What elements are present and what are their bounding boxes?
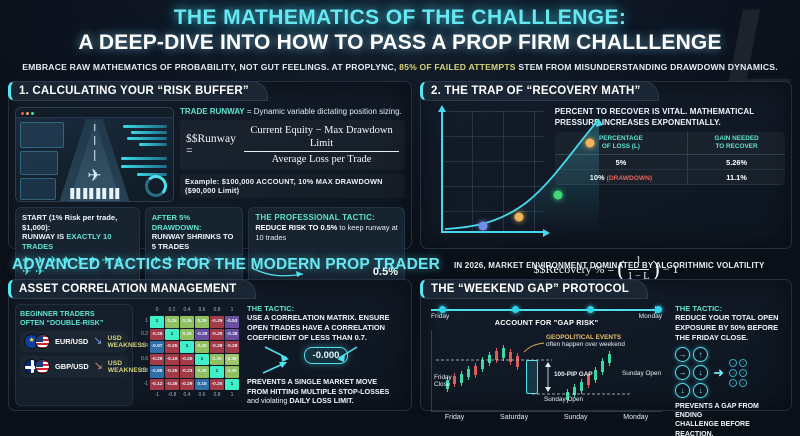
gap-zone-box	[526, 360, 538, 394]
bottom-row: ASSET CORRELATION MANAGEMENT BEGINNER TR…	[0, 277, 800, 411]
pair-name-gbpusd: GBP/USD	[55, 362, 89, 371]
tactic-body-bold: REDUCE RISK TO 0.5%	[255, 223, 337, 232]
matrix-cell[interactable]: -0.28	[210, 341, 224, 353]
panel-4-heading: THE “WEEKEND GAP” PROTOCOL	[420, 279, 648, 299]
timeline-label-right: Monday	[639, 313, 662, 320]
runway-formula-denominator: Average Loss per Trade	[244, 152, 399, 166]
list-item: EUR/USD ↘ USD WEAKNESS	[20, 331, 128, 352]
exposure-arrow-icon-0: →	[675, 347, 690, 362]
exposure-arrow-icon-1: ↑	[693, 347, 708, 362]
sunday-open-bottom-label: Sunday Open	[544, 396, 583, 403]
correlation-footer-l2: FROM HITTING MULTIPLE STOP-LOSSES	[247, 387, 405, 397]
trade-runway-def: = Dynamic variable dictating position si…	[245, 107, 402, 116]
top-row: 1. CALCULATING YOUR “RISK BUFFER” ✈	[0, 72, 800, 249]
trade-runway-label: TRADE RUNWAY	[180, 107, 245, 116]
matrix-cell[interactable]: 0.25	[210, 354, 224, 366]
matrix-cell[interactable]: -0.25	[210, 329, 224, 341]
matrix-cell[interactable]: -0.23	[180, 366, 194, 378]
matrix-cell[interactable]: 0.25	[165, 316, 179, 328]
matrix-cell[interactable]: -0.97	[150, 341, 164, 353]
subtitle-highlight: 85% OF FAILED ATTEMPTS	[399, 62, 516, 72]
correlation-matrix: 00.20.40.60.81110.250.250.29-0.25-0.530.…	[138, 304, 239, 406]
matrix-cell[interactable]: 1	[150, 316, 164, 328]
beginner-caption: BEGINNER TRADERS OFTEN “DOUBLE-RISK”	[20, 309, 128, 327]
chart-node-4	[586, 139, 595, 148]
table-header-gain-l2: TO RECOVER	[690, 143, 783, 151]
sunday-open-right-label: Sunday Open	[622, 370, 661, 377]
exposure-arrow-small-icon-2: →	[729, 369, 737, 377]
matrix-cell[interactable]: -0.39	[195, 329, 209, 341]
correlation-footer-l1: PREVENTS A SINGLE MARKET MOVE	[247, 377, 405, 387]
trade-runway-definition: TRADE RUNWAY = Dynamic variable dictatin…	[180, 107, 405, 116]
right-arrow-icon: ➜	[713, 365, 724, 381]
cell-gain-1: 5.26%	[688, 155, 785, 170]
beginner-pairs-box: BEGINNER TRADERS OFTEN “DOUBLE-RISK” EUR…	[15, 304, 133, 406]
subtitle-post: STEM FROM MISUNDERSTANDING DRAWDOWN DYNA…	[518, 62, 777, 72]
chart-node-1	[479, 222, 488, 231]
weekend-tactic-body: REDUCE YOUR TOTAL OPEN EXPOSURE BY 50% B…	[675, 313, 785, 342]
correlation-footer: PREVENTS A SINGLE MARKET MOVE FROM HITTI…	[247, 377, 405, 406]
beginner-caption-l2: OFTEN “DOUBLE-RISK”	[20, 318, 128, 327]
exposure-arrow-small-icon-0: →	[729, 359, 737, 367]
matrix-col-header-0: 0	[150, 306, 164, 315]
timeline-dot-1	[439, 306, 446, 313]
weekend-gap-chart: Friday Monday ACCOUNT FOR "GAP RISK"	[427, 304, 666, 436]
matrix-cell[interactable]: -0.25	[210, 379, 224, 391]
friday-close-note: Friday Close	[434, 374, 452, 388]
matrix-cell[interactable]: -0.85	[150, 366, 164, 378]
matrix-cell[interactable]: 1	[180, 341, 194, 353]
matrix-cell[interactable]: 1	[165, 329, 179, 341]
risk-formula-column: TRADE RUNWAY = Dynamic variable dictatin…	[180, 107, 405, 202]
weekend-footer-l2: CHALLENGE BEFORE REACTION.	[675, 420, 785, 436]
panel-1-heading: 1. CALCULATING YOUR “RISK BUFFER”	[8, 81, 268, 101]
matrix-cell[interactable]: -0.19	[165, 354, 179, 366]
table-header-gain: GAIN NEEDED TO RECOVER	[688, 132, 785, 155]
exposure-arrow-icon-3: ↓	[693, 365, 708, 380]
page-header: THE MATHEMATICS OF THE CHALLLENGE: A DEE…	[0, 0, 800, 72]
timeline-dot-4	[655, 306, 662, 313]
matrix-cell[interactable]: -0.29	[180, 379, 194, 391]
panel-recovery-math: 2. THE TRAP OF “RECOVERY MATH”	[420, 81, 792, 249]
runway-formula-numerator: Current Equity − Max Drawdown Limit	[244, 124, 399, 152]
mid-banner-subtitle: IN 2026, MARKET ENVIRONMENT DOMINATED BY…	[454, 261, 765, 270]
recovery-curve-chart	[427, 107, 550, 249]
matrix-cell[interactable]: 0.29	[195, 316, 209, 328]
matrix-cell[interactable]: 0.25	[195, 341, 209, 353]
weekend-tactic-title: THE TACTIC:	[675, 304, 785, 313]
friday-close-l2: Close	[434, 381, 452, 388]
matrix-col-header-2: 0.4	[180, 306, 194, 315]
geopolitical-note: GEOPOLITICAL EVENTS often happen over we…	[546, 334, 666, 348]
flag-pair-eurusd-icon	[24, 334, 50, 349]
exposure-arrow-icon-5: ↓	[693, 383, 708, 398]
matrix-row-header-3: 0.6	[138, 354, 149, 366]
card-start-line1: START (1% Risk per trade, $1,000):	[22, 213, 133, 232]
chart-node-2	[515, 213, 524, 222]
chart-node-3	[554, 191, 563, 200]
matrix-cell[interactable]: -0.25	[165, 366, 179, 378]
airplane-icon: ✈	[87, 166, 101, 186]
cell-gain-2: 11.1%	[688, 170, 785, 185]
x-label-friday: Friday	[445, 414, 464, 421]
correlation-tactic-column: THE TACTIC: USE A CORRELATION MATRIX. EN…	[244, 304, 405, 406]
mid-banner: ADVANCED TACTICS FOR THE MODERN PROP TRA…	[0, 249, 800, 277]
exposure-arrow-small-icon-1: ↑	[739, 359, 747, 367]
matrix-cell[interactable]: -0.29	[225, 341, 239, 353]
matrix-cell[interactable]: 0.25	[180, 316, 194, 328]
matrix-row-header-0: 1	[138, 316, 149, 328]
geopolitical-note-sub: often happen over weekend	[546, 341, 666, 348]
correlation-footer-l3-thin: and violating	[247, 396, 289, 405]
exposure-arrow-icon-4: ↓	[675, 383, 690, 398]
infographic-root: L P V THE MATHEMATICS OF THE CHALLLENGE:…	[0, 0, 800, 436]
pair-name-eurusd: EUR/USD	[55, 337, 88, 346]
beginner-caption-l1: BEGINNER TRADERS	[20, 309, 128, 318]
timeline-label-left: Friday	[431, 313, 449, 320]
matrix-bottom-header-4: 0.8	[210, 391, 224, 400]
matrix-cell[interactable]: 0.25	[195, 366, 209, 378]
matrix-row-header-2: 0.4	[138, 341, 149, 353]
page-title-line1: THE MATHEMATICS OF THE CHALLLENGE:	[0, 6, 800, 30]
panel-2-heading: 2. THE TRAP OF “RECOVERY MATH”	[420, 81, 659, 101]
weekend-footer: PREVENTS A GAP FROM ENDING CHALLENGE BEF…	[675, 402, 785, 436]
exposure-arrow-icon-2: →	[675, 365, 690, 380]
matrix-bottom-header-3: 0.6	[195, 391, 209, 400]
card-after-line1: AFTER 5% DRAWDOWN:	[152, 213, 237, 232]
matrix-cell[interactable]: 1	[210, 366, 224, 378]
panel-weekend-gap: THE “WEEKEND GAP” PROTOCOL Friday Monday…	[420, 279, 792, 411]
friday-close-l1: Friday	[434, 374, 452, 381]
matrix-cell[interactable]: -0.25	[165, 341, 179, 353]
matrix-cell[interactable]: -0.53	[225, 316, 239, 328]
matrix-cell[interactable]: -0.25	[150, 329, 164, 341]
page-title-line2: A DEEP-DIVE INTO HOW TO PASS A PROP FIRM…	[0, 31, 800, 55]
geopolitical-note-bold: GEOPOLITICAL EVENTS	[546, 334, 666, 341]
exposure-reduction-diagram: →↑→↓↓↓ ➜ →↑→↓↓↓	[675, 347, 785, 398]
weekend-footer-l1: PREVENTS A GAP FROM ENDING	[675, 402, 785, 420]
weekend-timeline: Friday Monday	[427, 304, 666, 320]
mid-banner-title: ADVANCED TACTICS FOR THE MODERN PROP TRA…	[12, 256, 440, 274]
matrix-col-header-4: 0.8	[210, 306, 224, 315]
runway-formula: $$Runway = Current Equity − Max Drawdown…	[180, 120, 405, 170]
matrix-cell[interactable]: -0.12	[150, 379, 164, 391]
tactic-title: THE PROFESSIONAL TACTIC:	[255, 213, 398, 222]
matrix-col-header-3: 0.6	[195, 306, 209, 315]
matrix-col-header-1: 0.2	[165, 306, 179, 315]
runway-example: Example: $100,000 ACCOUNT, 10% MAX DRAWD…	[180, 174, 405, 198]
timeline-dot-3	[587, 306, 594, 313]
candlestick-chart: Friday Close GEOPOLITICAL EVENTS often h…	[431, 330, 662, 412]
matrix-cell[interactable]: -0.25	[180, 354, 194, 366]
gap-size-label: 100-PIP GAP	[554, 371, 593, 378]
matrix-cell[interactable]: 0.25	[180, 329, 194, 341]
matrix-bottom-header-2: 0.4	[180, 391, 194, 400]
subtitle-pre: EMBRACE RAW MATHEMATICS OF PROBABILITY, …	[22, 62, 396, 72]
table-header-gain-l1: GAIN NEEDED	[690, 135, 783, 143]
matrix-cell[interactable]: 1	[195, 354, 209, 366]
list-item: GBP/USD ↘ USD WEAKNESS	[20, 356, 128, 377]
exposure-arrow-small-icon-4: ↓	[729, 379, 737, 387]
matrix-col-header-5: 1	[225, 306, 239, 315]
down-arrow-icon-1: ↘	[93, 336, 102, 347]
weekend-x-labels: Friday Saturday Sunday Monday	[427, 414, 666, 421]
correlation-footer-l3-bold: DAILY LOSS LIMIT.	[289, 396, 353, 405]
matrix-cell[interactable]: -0.26	[165, 379, 179, 391]
tactic-body: REDUCE RISK TO 0.5% to keep runway at 10…	[255, 223, 398, 242]
matrix-row-header-5: -1	[138, 379, 149, 391]
matrix-bottom-header-1: -0.8	[165, 391, 179, 400]
matrix-cell[interactable]: 0.15	[195, 379, 209, 391]
matrix-row-header-1: 0.2	[138, 329, 149, 341]
down-arrow-icon-2: ↘	[94, 361, 103, 372]
matrix-cell[interactable]: 0.25	[225, 366, 239, 378]
weekend-tactic-column: THE TACTIC: REDUCE YOUR TOTAL OPEN EXPOS…	[671, 304, 785, 436]
flag-pair-gbpusd-icon	[24, 359, 50, 374]
timeline-dot-2	[512, 306, 519, 313]
x-label-sunday: Sunday	[564, 414, 588, 421]
exposure-arrow-small-icon-5: ↓	[739, 379, 747, 387]
matrix-cell[interactable]: -0.29	[150, 354, 164, 366]
correlation-tactic-title: THE TACTIC:	[247, 304, 405, 313]
matrix-cell[interactable]: 1	[225, 379, 239, 391]
page-subtitle: EMBRACE RAW MATHEMATICS OF PROBABILITY, …	[0, 62, 800, 72]
matrix-row-header-4: -0.8	[138, 366, 149, 378]
panel-3-heading: ASSET CORRELATION MANAGEMENT	[8, 279, 256, 299]
runway-formula-lhs: $$Runway =	[186, 133, 238, 157]
correlation-arrows-icon	[247, 345, 379, 375]
panel-risk-buffer: 1. CALCULATING YOUR “RISK BUFFER” ✈	[8, 81, 412, 249]
x-label-saturday: Saturday	[500, 414, 528, 421]
card-start-line2-pre: RUNWAY IS	[22, 232, 66, 241]
x-label-monday: Monday	[623, 414, 648, 421]
runway-dashboard-image: ✈	[15, 107, 174, 202]
matrix-cell[interactable]: -0.38	[225, 329, 239, 341]
matrix-cell[interactable]: -0.25	[210, 316, 224, 328]
matrix-cell[interactable]: 0.38	[225, 354, 239, 366]
matrix-bottom-header-0: -1	[150, 391, 164, 400]
correlation-tactic-body: USE A CORRELATION MATRIX. ENSURE OPEN TR…	[247, 313, 405, 342]
panel-asset-correlation: ASSET CORRELATION MANAGEMENT BEGINNER TR…	[8, 279, 412, 411]
chart-line-path	[427, 107, 623, 249]
exposure-arrow-small-icon-3: ↓	[739, 369, 747, 377]
matrix-bottom-header-5: 1	[225, 391, 239, 400]
